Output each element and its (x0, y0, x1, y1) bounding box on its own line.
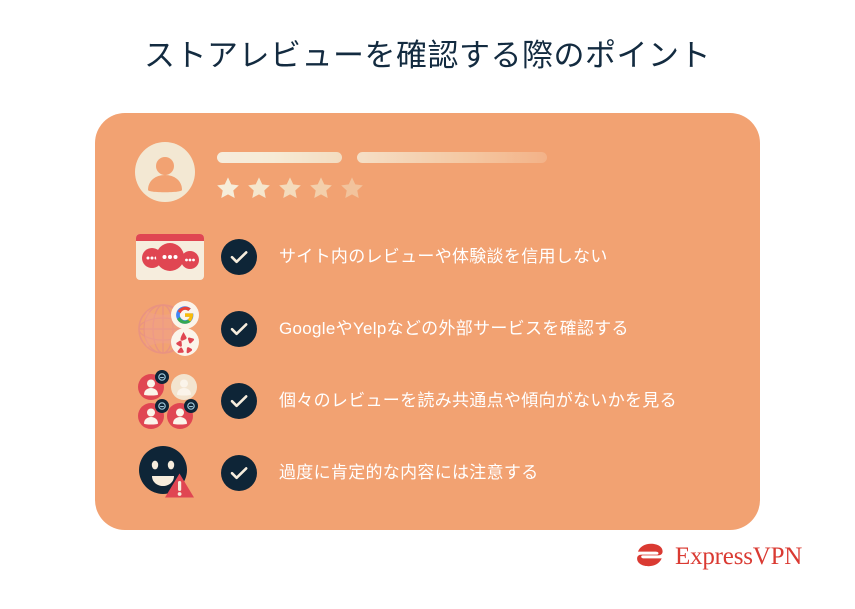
star-icon (308, 175, 334, 201)
star-icon (339, 175, 365, 201)
review-points-card: サイト内のレビューや体験談を信用しない (95, 113, 760, 530)
placeholder-bar-primary (217, 152, 342, 163)
expressvpn-wordmark: ExpressVPN (675, 544, 802, 569)
list-item-label: GoogleやYelpなどの外部サービスを確認する (279, 318, 629, 341)
star-icon (215, 175, 241, 201)
list-item-label: 過度に肯定的な内容には注意する (279, 462, 539, 485)
list-item: 個々のレビューを読み共通点や傾向がないかを見る (135, 365, 735, 437)
browser-reviews-icon (135, 226, 207, 288)
check-circle-icon (221, 455, 257, 491)
user-avatar-icon (135, 142, 195, 202)
card-header (135, 139, 725, 214)
page-title: ストアレビューを確認する際のポイント (0, 36, 855, 76)
star-rating (215, 175, 365, 201)
star-icon (277, 175, 303, 201)
star-icon (246, 175, 272, 201)
reviewer-avatars-icon (135, 370, 207, 432)
list-item-label: サイト内のレビューや体験談を信用しない (279, 246, 608, 269)
list-item-label: 個々のレビューを読み共通点や傾向がないかを見る (279, 390, 677, 413)
check-circle-icon (221, 239, 257, 275)
check-circle-icon (221, 383, 257, 419)
expressvpn-e-icon (634, 541, 666, 571)
review-points-list: サイト内のレビューや体験談を信用しない (135, 221, 735, 509)
globe-google-yelp-icon (135, 298, 207, 360)
list-item: GoogleやYelpなどの外部サービスを確認する (135, 293, 735, 365)
check-circle-icon (221, 311, 257, 347)
expressvpn-logo: ExpressVPN (634, 541, 802, 571)
list-item: サイト内のレビューや体験談を信用しない (135, 221, 735, 293)
placeholder-bar-secondary (357, 152, 547, 163)
smiley-warning-icon (135, 442, 207, 504)
list-item: 過度に肯定的な内容には注意する (135, 437, 735, 509)
